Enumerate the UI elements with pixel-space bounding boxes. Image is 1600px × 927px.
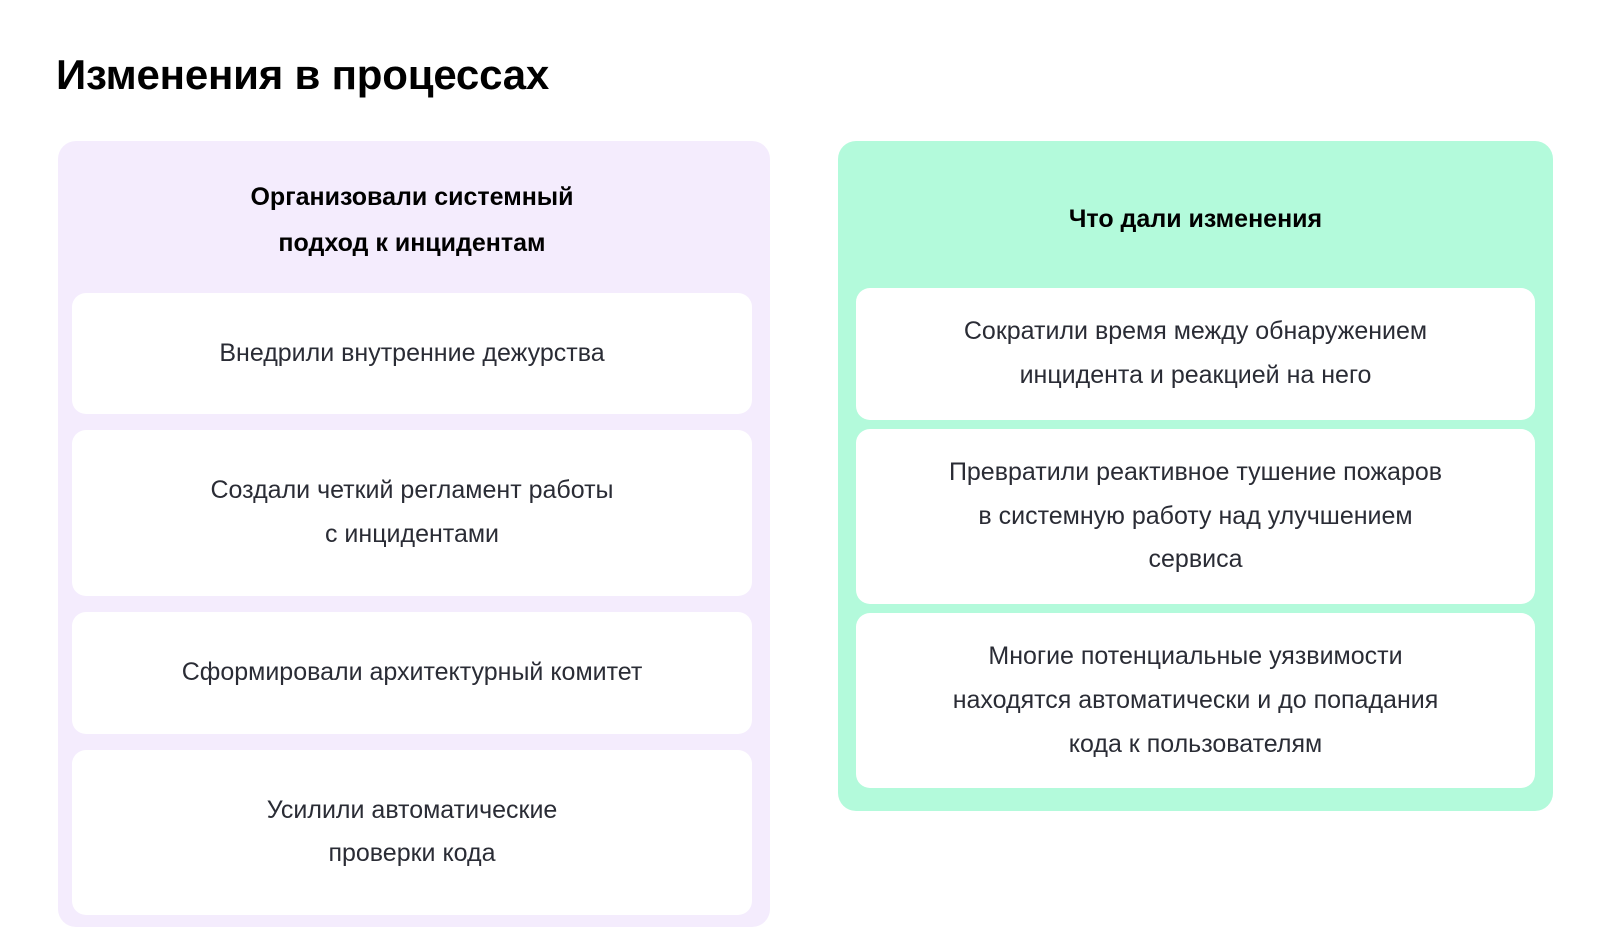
panel-results-card-list: Сократили время между обнаружением инцид… bbox=[856, 288, 1535, 788]
list-item: Многие потенциальные уязвимости находятс… bbox=[856, 613, 1535, 788]
list-item: Усилили автоматические проверки кода bbox=[72, 750, 752, 916]
panel-processes-header: Организовали системный подход к инцидент… bbox=[72, 141, 752, 293]
page-title: Изменения в процессах bbox=[56, 50, 549, 100]
panel-processes: Организовали системный подход к инцидент… bbox=[58, 141, 770, 927]
list-item: Сократили время между обнаружением инцид… bbox=[856, 288, 1535, 420]
list-item: Сформировали архитектурный комитет bbox=[72, 612, 752, 734]
panel-processes-card-list: Внедрили внутренние дежурства Создали че… bbox=[72, 293, 752, 916]
list-item: Превратили реактивное тушение пожаров в … bbox=[856, 429, 1535, 604]
list-item: Внедрили внутренние дежурства bbox=[72, 293, 752, 415]
list-item: Создали четкий регламент работы с инциде… bbox=[72, 430, 752, 596]
panel-results: Что дали изменения Сократили время между… bbox=[838, 141, 1553, 811]
panel-results-header: Что дали изменения bbox=[856, 141, 1535, 288]
